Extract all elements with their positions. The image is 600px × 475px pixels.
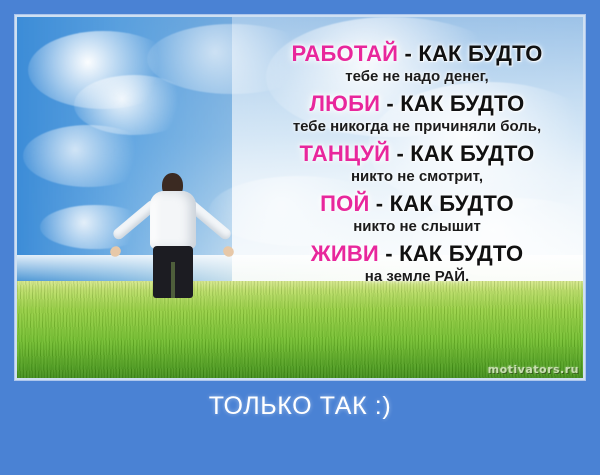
quote-line-main: ТАНЦУЙ - КАК БУДТО [231,143,583,165]
quote-keyword: ТАНЦУЙ [300,141,391,166]
poster-caption: ТОЛЬКО ТАК :) [0,392,600,421]
quote-line-sub: тебе никогда не причиняли боль, [231,119,583,134]
quote-line-rest: - КАК БУДТО [380,91,524,116]
quote-line-rest: - КАК БУДТО [390,141,534,166]
photograph: РАБОТАЙ - КАК БУДТО тебе не надо денег, … [17,17,583,378]
quote-keyword: ПОЙ [320,191,369,216]
motivational-poster: РАБОТАЙ - КАК БУДТО тебе не надо денег, … [0,0,600,475]
quote-stanza: ЛЮБИ - КАК БУДТО тебе никогда не причиня… [231,93,583,134]
quote-line-main: ПОЙ - КАК БУДТО [231,193,583,215]
quote-keyword: РАБОТАЙ [291,41,398,66]
quote-stanza: ПОЙ - КАК БУДТО никто не слышит [231,193,583,234]
quote-stanza: ЖИВИ - КАК БУДТО на земле РАЙ. [231,243,583,284]
quote-line-sub: никто не слышит [231,219,583,234]
person-torso [150,191,196,249]
quote-keyword: ЖИВИ [311,241,379,266]
quote-line-rest: - КАК БУДТО [398,41,542,66]
quote-stanza: ТАНЦУЙ - КАК БУДТО никто не смотрит, [231,143,583,184]
quote-line-sub: тебе не надо денег, [231,69,583,84]
quote-line-rest: - КАК БУДТО [370,191,514,216]
quote-line-main: РАБОТАЙ - КАК БУДТО [231,43,583,65]
quote-line-main: ЖИВИ - КАК БУДТО [231,243,583,265]
quote-stanza: РАБОТАЙ - КАК БУДТО тебе не надо денег, [231,43,583,84]
quote-block: РАБОТАЙ - КАК БУДТО тебе не надо денег, … [231,43,583,293]
person-legs [153,246,193,298]
watermark: motivators.ru [488,363,579,376]
quote-line-rest: - КАК БУДТО [379,241,523,266]
quote-keyword: ЛЮБИ [310,91,381,116]
photo-frame: РАБОТАЙ - КАК БУДТО тебе не надо денег, … [15,15,585,380]
quote-line-main: ЛЮБИ - КАК БУДТО [231,93,583,115]
quote-line-sub: на земле РАЙ. [231,269,583,284]
quote-line-sub: никто не смотрит, [231,169,583,184]
person-with-raised-arms [112,149,232,299]
